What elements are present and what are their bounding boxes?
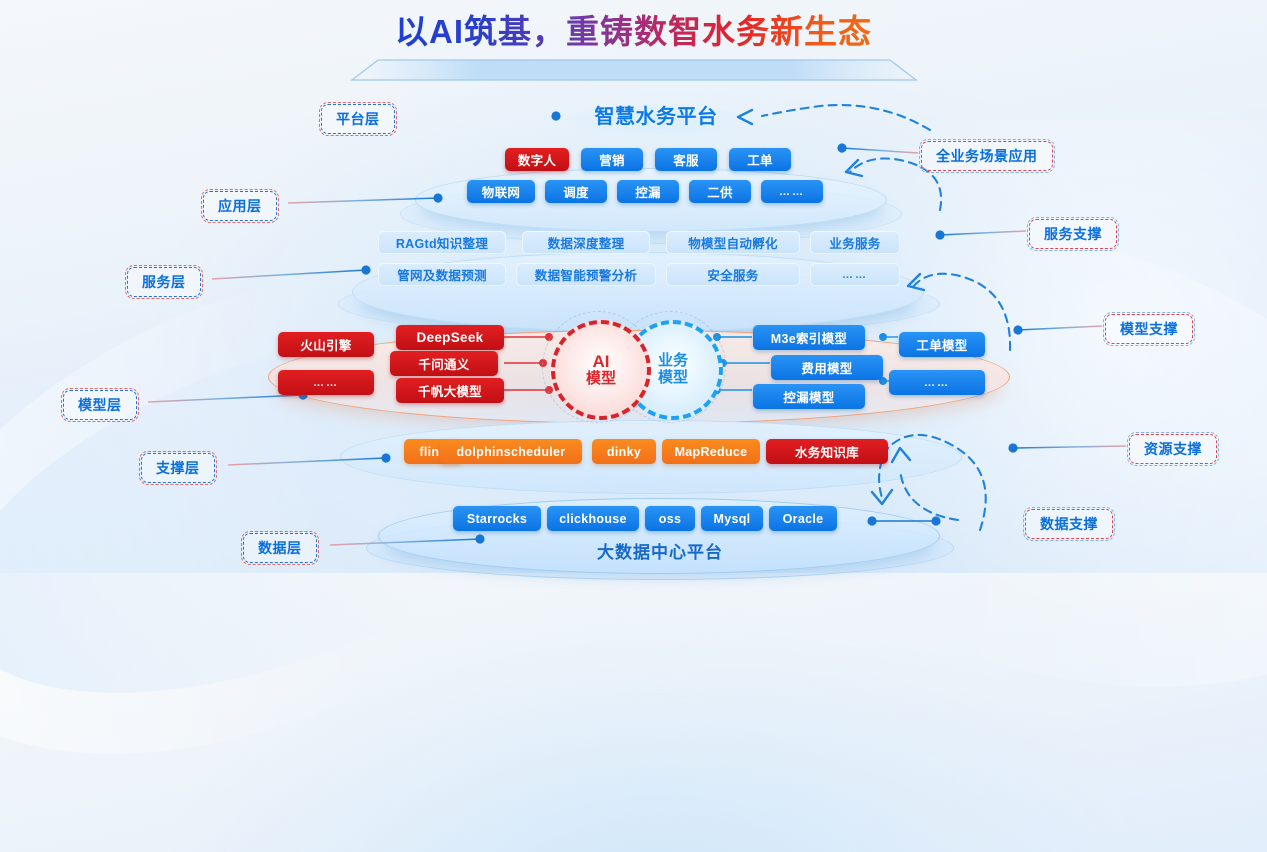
- svc-tag-pipeline-forecast[interactable]: 管网及数据预测: [378, 263, 506, 286]
- model-tag-far-left-more-label: ……: [313, 377, 339, 389]
- sidebar-label-model-support[interactable]: 模型支撑: [1105, 314, 1193, 344]
- business-model-line2: 模型: [658, 370, 688, 387]
- data-tag-oracle[interactable]: Oracle: [769, 506, 837, 531]
- platform-heading: 智慧水务平台: [556, 100, 756, 129]
- sidebar-label-data-support[interactable]: 数据支撑: [1025, 509, 1113, 539]
- model-tag-far-left-more[interactable]: ……: [278, 370, 374, 395]
- data-tag-clickhouse[interactable]: clickhouse: [547, 506, 639, 531]
- svc-tag-intelligent-warning[interactable]: 数据智能预警分析: [516, 263, 656, 286]
- bigdata-platform-heading: 大数据中心平台: [500, 538, 820, 563]
- support-tag-water-knowledge-base[interactable]: 水务知识库: [766, 439, 888, 464]
- model-tag-deepseek[interactable]: DeepSeek: [396, 325, 504, 350]
- svc-tag-more-label: ……: [842, 269, 868, 281]
- ai-model-line1: AI: [593, 352, 610, 371]
- page-title-text: 以AI筑基，重铸数智水务新生态: [395, 14, 872, 50]
- support-tag-dinky[interactable]: dinky: [592, 439, 656, 464]
- app-tag-more[interactable]: ……: [761, 180, 823, 203]
- data-tag-oss[interactable]: oss: [645, 506, 695, 531]
- ai-model-line2: 模型: [586, 371, 616, 388]
- model-tag-m3e-index[interactable]: M3e索引模型: [753, 325, 865, 350]
- sidebar-label-data-layer[interactable]: 数据层: [243, 533, 317, 563]
- support-tag-dolphinscheduler[interactable]: dolphinscheduler: [440, 439, 582, 464]
- app-tag-digital-human[interactable]: 数字人: [505, 148, 569, 171]
- svc-tag-more[interactable]: ……: [810, 263, 900, 286]
- app-tag-leak-control[interactable]: 控漏: [617, 180, 679, 203]
- diagram-root: 以AI筑基，重铸数智水务新生态: [0, 0, 1267, 573]
- svc-tag-rag-knowledge[interactable]: RAGtd知识整理: [378, 231, 506, 254]
- model-tag-work-order[interactable]: 工单模型: [899, 332, 985, 357]
- svc-tag-business-service[interactable]: 业务服务: [810, 231, 900, 254]
- app-tag-marketing[interactable]: 营销: [581, 148, 643, 171]
- svc-tag-deep-data[interactable]: 数据深度整理: [522, 231, 650, 254]
- svc-tag-thing-model-incubation[interactable]: 物模型自动孵化: [666, 231, 800, 254]
- data-tag-mysql[interactable]: Mysql: [701, 506, 763, 531]
- app-tag-secondary-supply[interactable]: 二供: [689, 180, 751, 203]
- sidebar-label-resource-support[interactable]: 资源支撑: [1129, 434, 1217, 464]
- model-tag-qianfan[interactable]: 千帆大模型: [396, 378, 504, 403]
- sidebar-label-service-layer[interactable]: 服务层: [127, 267, 201, 297]
- app-tag-iot[interactable]: 物联网: [467, 180, 535, 203]
- page-title: 以AI筑基，重铸数智水务新生态: [0, 14, 1267, 50]
- model-tag-cost[interactable]: 费用模型: [771, 355, 883, 380]
- model-tag-qianwen[interactable]: 千问通义: [390, 351, 498, 376]
- sidebar-label-full-business-scenario[interactable]: 全业务场景应用: [921, 141, 1053, 171]
- support-tag-mapreduce[interactable]: MapReduce: [662, 439, 760, 464]
- model-tag-leak-control[interactable]: 控漏模型: [753, 384, 865, 409]
- business-model-line1: 业务: [658, 353, 688, 370]
- sidebar-label-support-layer[interactable]: 支撑层: [141, 453, 215, 483]
- sidebar-label-application-layer[interactable]: 应用层: [203, 191, 277, 221]
- app-tag-more-label: ……: [779, 186, 805, 198]
- model-tag-volcano-engine[interactable]: 火山引擎: [278, 332, 374, 357]
- app-tag-scheduling[interactable]: 调度: [545, 180, 607, 203]
- app-tag-work-order[interactable]: 工单: [729, 148, 791, 171]
- svc-tag-security-service[interactable]: 安全服务: [666, 263, 800, 286]
- app-tag-customer-service[interactable]: 客服: [655, 148, 717, 171]
- sidebar-label-platform-layer[interactable]: 平台层: [321, 104, 395, 134]
- model-tag-far-right-more-label: ……: [924, 377, 950, 389]
- ai-model-circle[interactable]: AI 模型: [551, 320, 651, 420]
- sidebar-label-service-support[interactable]: 服务支撑: [1029, 219, 1117, 249]
- model-tag-far-right-more[interactable]: ……: [889, 370, 985, 395]
- data-tag-starrocks[interactable]: Starrocks: [453, 506, 541, 531]
- sidebar-label-model-layer[interactable]: 模型层: [63, 390, 137, 420]
